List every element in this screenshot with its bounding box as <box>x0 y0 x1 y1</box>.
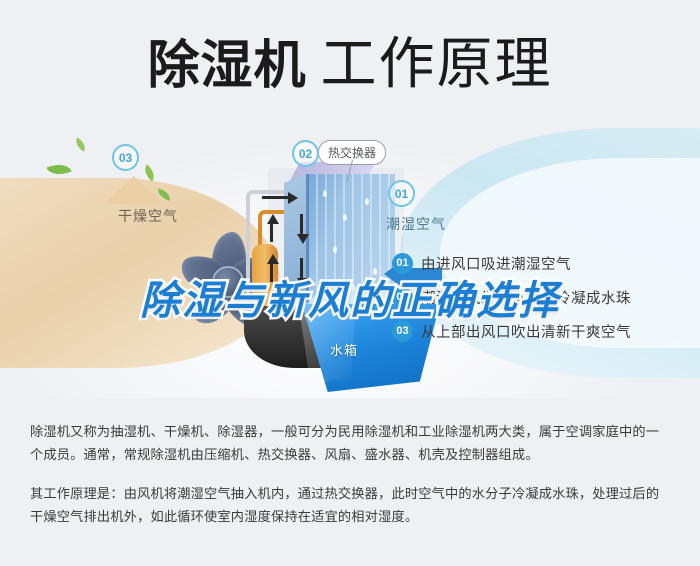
flow-arrow-down-icon <box>297 234 309 244</box>
diagram-badge-02: 02 <box>292 140 319 167</box>
flow-line <box>300 258 303 278</box>
humid-air-label: 潮湿空气 <box>386 214 446 234</box>
dehumidifier-diagram: 水箱 热交换器 03 02 01 干燥空气 潮湿空气 01 由进风口吸进潮湿空气… <box>0 118 700 398</box>
page-title: 除湿机 工作原理 <box>147 19 552 100</box>
step-item: 01 由进风口吸进潮湿空气 <box>392 246 692 280</box>
diagram-badge-03: 03 <box>112 144 139 171</box>
flow-arrow-up-icon <box>267 214 279 224</box>
step-list: 01 由进风口吸进潮湿空气 02 潮湿空气经过蒸发器冷凝成水珠 03 从上部出风… <box>392 246 692 348</box>
leaf-icon <box>46 159 71 179</box>
water-droplet-icon <box>333 246 337 253</box>
fan-hub <box>212 266 244 298</box>
flow-arrow-right-icon <box>288 192 298 204</box>
step-number: 02 <box>392 287 413 308</box>
step-item: 03 从上部出风口吹出清新干爽空气 <box>392 314 692 348</box>
page-title-part2: 工作原理 <box>321 19 553 100</box>
flow-line <box>262 196 288 199</box>
flow-arrow-down-icon <box>297 278 309 288</box>
step-number: 01 <box>392 253 413 274</box>
dry-air-label: 干燥空气 <box>118 206 178 226</box>
leaf-icon <box>73 137 89 151</box>
flow-line <box>270 262 273 282</box>
water-droplet-icon <box>343 214 347 221</box>
article-body: 除湿机又称为抽湿机、干燥机、除湿器，一般可分为民用除湿机和工业除湿机两大类，属于… <box>0 398 700 566</box>
flow-line <box>270 222 273 242</box>
page-header: 除湿机 工作原理 <box>0 0 700 118</box>
water-tank-label: 水箱 <box>330 340 358 359</box>
step-item: 02 潮湿空气经过蒸发器冷凝成水珠 <box>392 280 692 314</box>
page-title-part1: 除湿机 <box>147 23 306 98</box>
body-paragraph-1: 除湿机又称为抽湿机、干燥机、除湿器，一般可分为民用除湿机和工业除湿机两大类，属于… <box>30 420 670 466</box>
step-text: 由进风口吸进潮湿空气 <box>421 253 571 274</box>
water-droplet-icon <box>373 268 377 275</box>
body-paragraph-2: 其工作原理是：由风机将潮湿空气抽入机内，通过热交换器，此时空气中的水分子冷凝成水… <box>30 482 670 528</box>
diagram-badge-01: 01 <box>388 180 415 207</box>
water-droplet-icon <box>323 190 327 197</box>
step-number: 03 <box>392 321 413 342</box>
water-droplet-icon <box>365 198 369 205</box>
flow-arrow-up-icon <box>267 254 279 264</box>
dry-air-arrow-tip <box>104 176 164 204</box>
flow-line <box>300 214 303 234</box>
step-text: 从上部出风口吹出清新干爽空气 <box>421 321 631 342</box>
step-text: 潮湿空气经过蒸发器冷凝成水珠 <box>421 287 631 308</box>
